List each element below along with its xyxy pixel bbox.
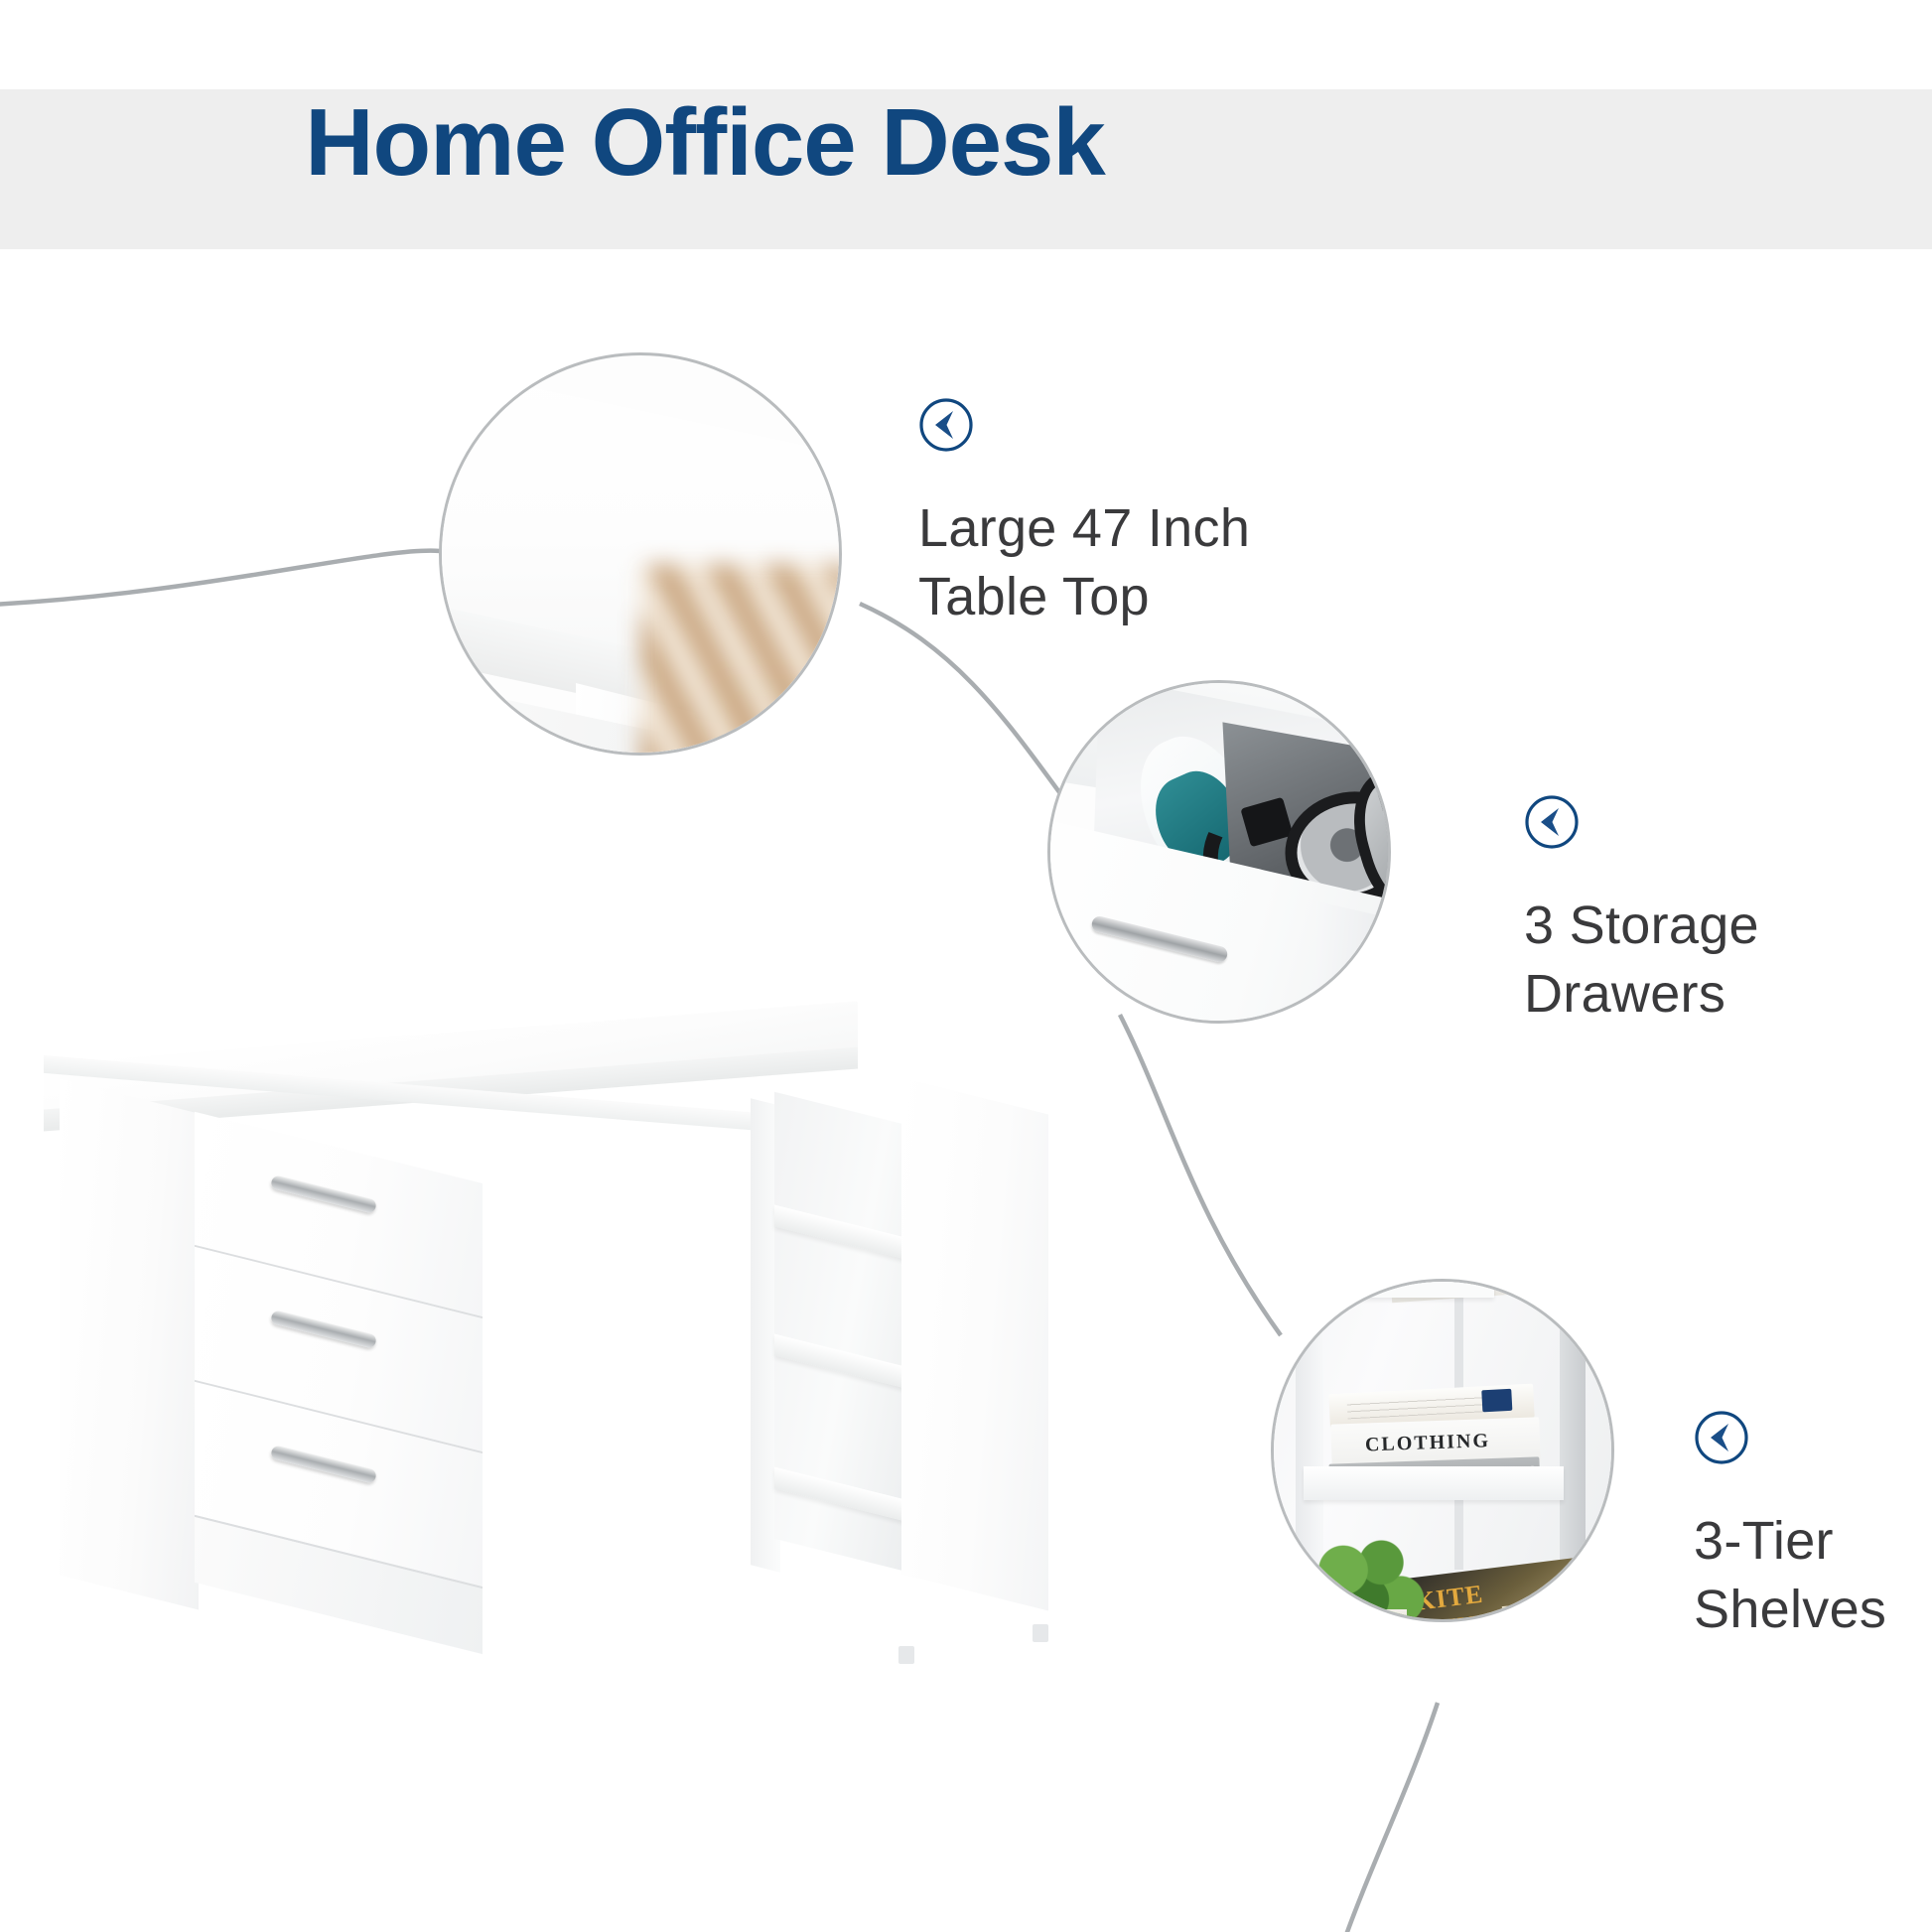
callout-label-table-top: Large 47 Inch Table Top xyxy=(918,397,1250,631)
infographic-canvas: Home Office Desk Large 47 Inch xyxy=(0,0,1932,1932)
callout-photo-tier-shelves: CLOTHING HOME DESIGN KITE RUNNER xyxy=(1271,1279,1614,1622)
desk-cabinet-side-panel xyxy=(60,1079,199,1610)
callout-label-storage-drawers: 3 Storage Drawers xyxy=(1524,794,1759,1029)
callout-photo-storage-drawers: ANTIQUE xyxy=(1047,680,1391,1024)
desk-foot-right xyxy=(1033,1624,1048,1642)
callout-label-text-storage-drawers: 3 Storage Drawers xyxy=(1524,892,1759,1029)
callout-label-tier-shelves: 3-Tier Shelves xyxy=(1694,1410,1886,1644)
desk-foot-left xyxy=(898,1646,914,1664)
callout-photo-table-top xyxy=(439,352,842,756)
product-image-desk xyxy=(0,993,1172,1777)
callout-label-text-table-top: Large 47 Inch Table Top xyxy=(918,494,1250,631)
callout-label-text-tier-shelves: 3-Tier Shelves xyxy=(1694,1507,1886,1644)
circle-left-arrow-icon xyxy=(1694,1410,1749,1465)
circle-left-arrow-icon xyxy=(918,397,974,453)
desk-shelf-side-panel xyxy=(901,1078,1048,1611)
circle-left-arrow-icon xyxy=(1524,794,1580,850)
photo-book-title-clothing: CLOTHING xyxy=(1365,1430,1491,1456)
